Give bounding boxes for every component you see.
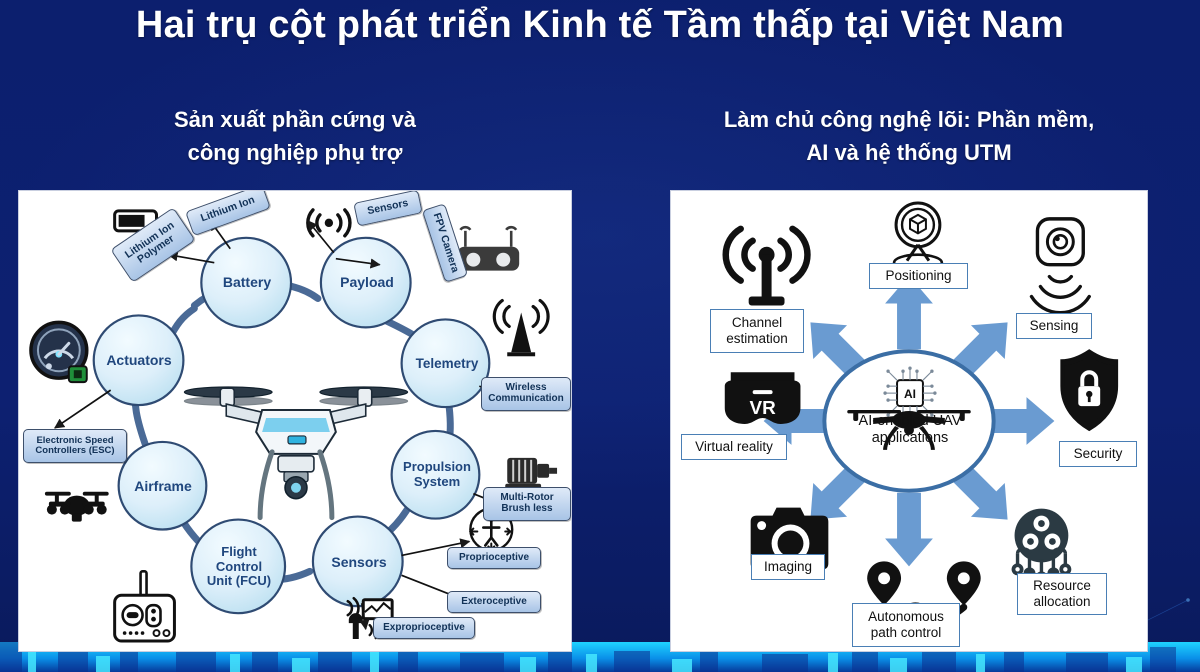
wifi-signal-icon bbox=[308, 210, 350, 236]
column-heading-right: Làm chủ công nghệ lõi: Phần mềm, AI và h… bbox=[670, 104, 1148, 169]
vr-headset-icon: VR bbox=[725, 372, 801, 424]
tag-wireless-communication: Wireless Communication bbox=[481, 377, 571, 411]
app-box-positioning[interactable]: Positioning bbox=[869, 263, 968, 289]
app-box-channel-estimation[interactable]: Channel estimation bbox=[710, 309, 804, 353]
drone-illustration bbox=[184, 387, 407, 518]
app-box-channel-estimation-line1: Channel bbox=[732, 315, 782, 331]
column-heading-left-line1: Sản xuất phần cứng và bbox=[18, 104, 572, 137]
node-airframe bbox=[119, 442, 207, 530]
app-box-imaging[interactable]: Imaging bbox=[751, 554, 825, 580]
app-box-autonomous-line2: path control bbox=[871, 625, 942, 641]
app-box-sensing[interactable]: Sensing bbox=[1016, 313, 1092, 339]
node-payload bbox=[321, 238, 411, 328]
slide-root: Hai trụ cột phát triển Kinh tế Tầm thấp … bbox=[0, 0, 1200, 672]
quadcopter-top-icon bbox=[45, 492, 109, 522]
tag-esc-line2: Controllers (ESC) bbox=[35, 446, 114, 456]
arrow-down bbox=[885, 493, 933, 567]
tag-exproprioceptive: Exproprioceptive bbox=[373, 617, 475, 639]
column-heading-right-line2: AI và hệ thống UTM bbox=[670, 137, 1148, 170]
shield-lock-icon bbox=[1061, 350, 1117, 430]
node-sensors bbox=[313, 517, 403, 607]
app-box-autonomous-line1: Autonomous bbox=[868, 609, 944, 625]
node-propulsion bbox=[392, 431, 480, 519]
tag-multi-rotor-line2: Brush less bbox=[501, 504, 552, 515]
app-box-resource-allocation[interactable]: Resource allocation bbox=[1017, 573, 1107, 615]
node-telemetry bbox=[402, 319, 490, 407]
column-heading-left: Sản xuất phần cứng và công nghiệp phụ tr… bbox=[18, 104, 572, 169]
app-box-virtual-reality[interactable]: Virtual reality bbox=[681, 434, 787, 460]
tag-proprioceptive: Proprioceptive bbox=[447, 547, 541, 569]
antenna-tower-icon-right bbox=[726, 229, 808, 306]
rc-transmitter-icon bbox=[115, 571, 175, 641]
vr-goggles-icon bbox=[457, 227, 519, 270]
node-fcu bbox=[191, 520, 285, 614]
left-figure-panel: Battery Payload Telemetry Propulsion Sys… bbox=[18, 190, 572, 652]
slide-title: Hai trụ cột phát triển Kinh tế Tầm thấp … bbox=[0, 4, 1200, 47]
app-box-autonomous-path-control[interactable]: Autonomous path control bbox=[852, 603, 960, 647]
column-heading-left-line2: công nghiệp phụ trợ bbox=[18, 137, 572, 170]
uav-subsystem-graphics bbox=[19, 191, 571, 651]
app-box-security[interactable]: Security bbox=[1059, 441, 1137, 467]
app-box-resource-allocation-line2: allocation bbox=[1033, 594, 1090, 610]
antenna-tower-icon bbox=[494, 301, 548, 357]
svg-text:AI: AI bbox=[904, 387, 916, 401]
node-battery bbox=[201, 238, 291, 328]
app-box-resource-allocation-line1: Resource bbox=[1033, 578, 1091, 594]
camera-sensor-waves-icon bbox=[1031, 219, 1089, 313]
svg-text:VR: VR bbox=[749, 398, 776, 419]
app-box-channel-estimation-line2: estimation bbox=[726, 331, 788, 347]
tag-wireless-communication-line2: Communication bbox=[488, 394, 564, 405]
right-figure-panel: AI bbox=[670, 190, 1148, 652]
speed-gauge-icon bbox=[31, 322, 87, 382]
arrow-to-esc bbox=[55, 390, 111, 428]
location-pin-3d-icon bbox=[894, 203, 942, 271]
uav-subsystem-diagram bbox=[19, 191, 571, 651]
column-heading-right-line1: Làm chủ công nghệ lõi: Phần mềm, bbox=[670, 104, 1148, 137]
tag-multi-rotor-brushless: Multi-Rotor Brush less bbox=[483, 487, 571, 521]
tag-exteroceptive: Exteroceptive bbox=[447, 591, 541, 613]
tag-esc: Electronic Speed Controllers (ESC) bbox=[23, 429, 127, 463]
